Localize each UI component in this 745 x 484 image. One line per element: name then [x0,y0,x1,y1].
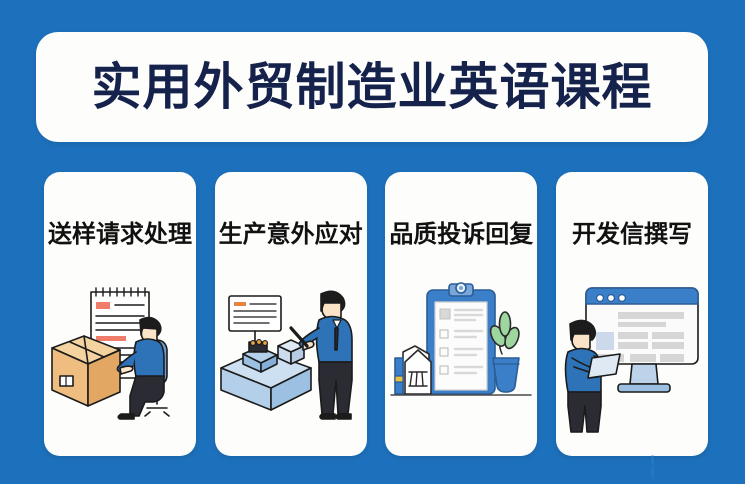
poster-canvas: 实用外贸制造业英语课程 送样请求处理 [0,0,745,484]
feature-card-2-title: 生产意外应对 [215,214,367,249]
box-notepad-person-icon [44,276,196,436]
title-card: 实用外贸制造业英语课程 [36,32,708,142]
feature-card-2[interactable]: 生产意外应对 [215,172,367,456]
feature-card-3-title: 品质投诉回复 [385,214,537,249]
monitor-browser-person-icon [556,276,708,436]
feature-card-1-title: 送样请求处理 [44,214,196,249]
clipboard-checklist-plant-icon [385,276,537,436]
feature-card-1[interactable]: 送样请求处理 [44,172,196,456]
whiteboard-machine-presenter-icon [215,276,367,436]
feature-card-4[interactable]: 开发信撰写 [556,172,708,456]
cursor-artifact [648,455,658,479]
feature-cards-row: 送样请求处理 [44,172,708,456]
feature-card-4-title: 开发信撰写 [556,214,708,249]
page-title: 实用外贸制造业英语课程 [92,62,653,112]
feature-card-3[interactable]: 品质投诉回复 [385,172,537,456]
